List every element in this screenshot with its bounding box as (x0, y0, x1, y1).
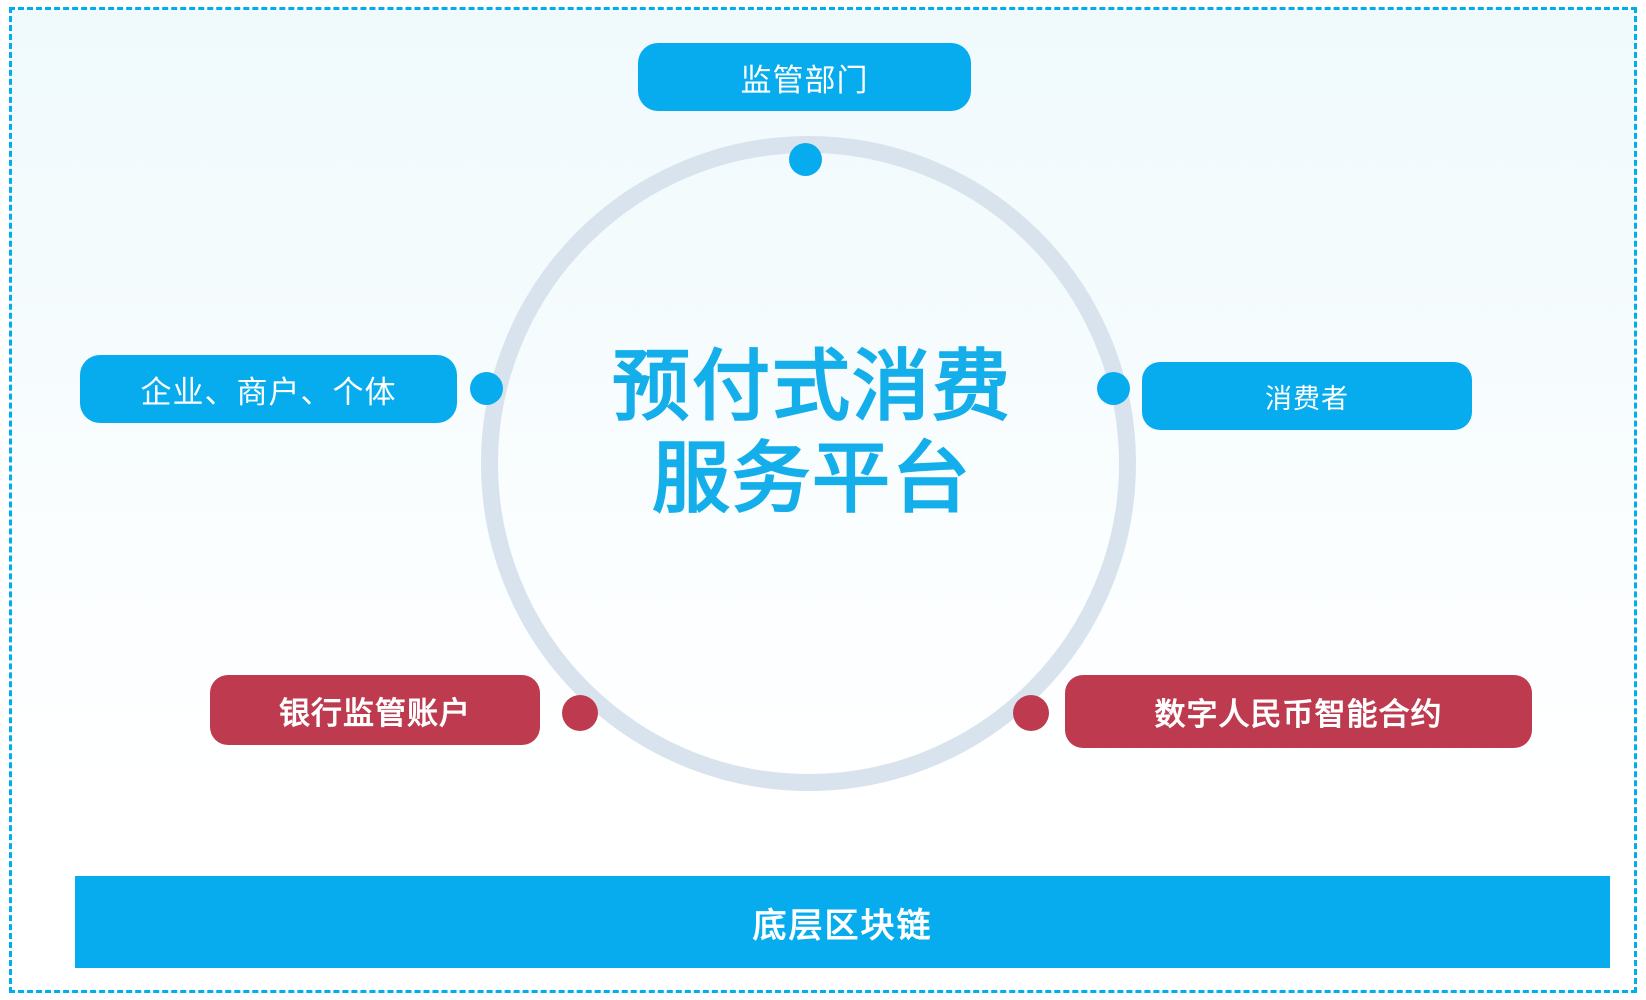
connector-dot-enterprise (470, 372, 503, 405)
connector-dot-smart-contract (1013, 695, 1049, 731)
node-regulator-label: 监管部门 (741, 55, 869, 100)
footer-blockchain-label: 底层区块链 (753, 898, 933, 947)
node-bank-account-label: 银行监管账户 (279, 688, 471, 733)
connector-dot-bank-account (562, 695, 598, 731)
node-consumer[interactable]: 消费者 (1142, 362, 1472, 430)
connector-dot-regulator (789, 143, 822, 176)
center-title-line-2: 服务平台 (572, 432, 1052, 524)
node-enterprise-label: 企业、商户、个体 (141, 367, 397, 412)
center-platform-title: 预付式消费 服务平台 (572, 340, 1052, 524)
node-bank-account[interactable]: 银行监管账户 (210, 675, 540, 745)
diagram-panel: 预付式消费 服务平台 监管部门 企业、商户、个体 消费者 银行监管账户 数字人民… (9, 7, 1637, 993)
diagram-canvas: 预付式消费 服务平台 监管部门 企业、商户、个体 消费者 银行监管账户 数字人民… (0, 0, 1646, 1000)
node-enterprise[interactable]: 企业、商户、个体 (80, 355, 457, 423)
node-smart-contract[interactable]: 数字人民币智能合约 (1065, 675, 1532, 748)
node-regulator[interactable]: 监管部门 (638, 43, 971, 111)
node-consumer-label: 消费者 (1265, 377, 1349, 416)
center-title-line-1: 预付式消费 (572, 340, 1052, 432)
footer-blockchain-bar[interactable]: 底层区块链 (75, 876, 1610, 968)
node-smart-contract-label: 数字人民币智能合约 (1155, 689, 1443, 734)
connector-dot-consumer (1097, 372, 1130, 405)
